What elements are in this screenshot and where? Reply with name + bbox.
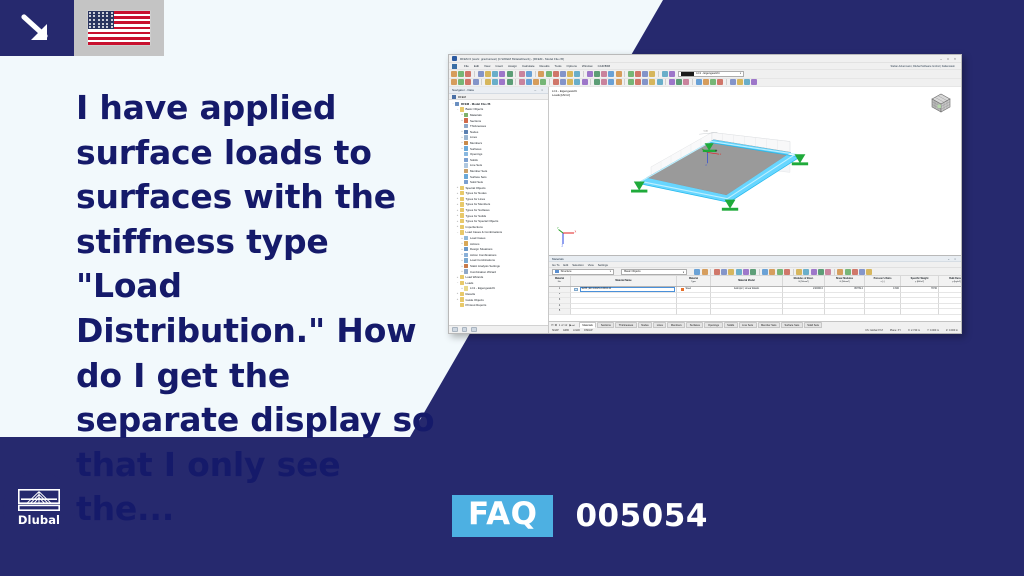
toolbar-icon-15[interactable] [567,79,573,85]
status-tab-materials[interactable]: Materials [579,322,597,328]
tree-node-icon [460,191,464,195]
toolbar-icon-31[interactable] [703,79,709,85]
tree-node-label: Thicknesses [470,124,486,128]
tree-node-label: Openings [470,152,482,156]
tree-node-icon [460,230,464,234]
status-tab-openings[interactable]: Openings [704,322,722,328]
toolbar-icon-30[interactable] [696,79,702,85]
title-bar: RFEM 6 (work: gradruntest) [C:\RFEM 6\Da… [449,55,961,63]
toolbar-icon-37[interactable] [751,79,757,85]
tree-node-icon [464,180,468,184]
grid-column-label: Material Model [738,280,755,283]
toolbar-separator [515,71,516,77]
toolbar-icon-28[interactable] [676,79,682,85]
table-toolbar-icon-16[interactable] [796,269,802,275]
material-color-chip [574,288,578,291]
toolbar-icon-4[interactable] [478,71,484,77]
menu-cadbim[interactable]: CAD/BIM [598,64,611,68]
toolbar-icon-36[interactable] [744,79,750,85]
navigator-display-button[interactable] [462,327,468,333]
modifier-load[interactable]: LOAD [573,329,580,332]
navigator-pin-close-icons[interactable]: ⌐ × [535,88,545,92]
toolbar-icon-11[interactable] [533,79,539,85]
grid-column-header[interactable]: Specific Weightγ [kN/m³] [901,276,939,286]
tree-node-icon [464,135,468,139]
navigator-data-button[interactable] [452,327,458,333]
close-button[interactable]: × [954,57,956,61]
table-menu-selection[interactable]: Selection [572,263,584,267]
menu-results[interactable]: Results [540,64,550,68]
window-title: RFEM 6 (work: gradruntest) [C:\RFEM 6\Da… [460,57,564,61]
toolbar-icon-33[interactable] [717,79,723,85]
grid-column-header[interactable]: Material Model [711,276,783,286]
toolbar-icon-11[interactable] [538,71,544,77]
table-toolbar-icon-18[interactable] [811,269,817,275]
toolbar-separator [665,79,666,85]
table-toolbar-icon-14[interactable] [784,269,790,275]
status-tab-thicknesses[interactable]: Thicknesses [615,322,636,328]
model-viewport[interactable]: LC1 - Eigengewicht Loads [kN/m²] [549,87,961,255]
grid-column-header[interactable]: Bulk Densityρ [kg/m³] [939,276,961,286]
table-cell[interactable] [783,309,825,315]
status-tab-member-sets[interactable]: Member Sets [758,322,780,328]
table-menu-edit[interactable]: Edit [563,263,568,267]
snap-modifiers[interactable]: SNAPGRIDLOADOSNAP [552,329,593,332]
tree-node-label: Lines [470,135,477,139]
status-tab-solids[interactable]: Solids [724,322,738,328]
svg-text:5.00: 5.00 [704,130,709,132]
rfem-tab-icon [452,95,456,99]
toolbar-icon-10[interactable] [526,71,532,77]
toolbar-icon-5[interactable] [485,79,491,85]
tree-expander-icon[interactable]: + [456,214,460,217]
faq-row: FAQ 005054 [452,492,708,540]
tree-node-label: LC1 - Eigengewicht [470,286,495,290]
tree-node-label: Members [470,141,482,145]
grid-column-header[interactable]: Poisson's Ratioν [-] [865,276,901,286]
navigator-header: Navigator - Data ⌐ × [449,87,548,94]
faq-number: 005054 [575,498,707,534]
table-toolbar-icon-22[interactable] [837,269,843,275]
toolbar-icon-19[interactable] [601,79,607,85]
grid-column-header[interactable]: Material Name [571,276,677,286]
dlubal-truss-icon [18,489,60,511]
toolbar-row-2[interactable] [449,79,961,88]
tree-node-label: RFEM - Model File.rf6 [461,102,490,106]
navigator-views-button[interactable] [471,327,477,333]
menu-bar[interactable]: File Edit View Insert Assign Calculate R… [449,63,961,70]
toolbar-icon-14[interactable] [560,71,566,77]
table-toolbar-separator [759,269,760,275]
tree-expander-icon[interactable]: + [456,186,460,189]
menu-tools[interactable]: Tools [555,64,562,68]
toolbar-icon-5[interactable] [485,71,491,77]
toolbar-icon-16[interactable] [574,79,580,85]
toolbar-icon-27[interactable] [669,79,675,85]
tree-node-icon [464,163,468,167]
chevron-down-icon[interactable]: ▾ [740,72,741,75]
table-cell[interactable] [677,309,711,315]
table-cell[interactable]: 5 [549,309,571,315]
toolbar-icon-3[interactable] [465,71,471,77]
toolbar-separator [474,71,475,77]
tree-node-label: Types for Nodes [465,191,486,195]
tree-node-icon [464,124,468,128]
table-panel[interactable]: Materials ⌐ × Go To Edit Selection View … [549,255,961,321]
tree-node-label: Load Combinations [470,258,495,262]
table-tool-icons[interactable] [694,269,872,275]
grid-column-unit: E [N/mm²] [799,281,809,284]
tree-expander-icon[interactable]: + [456,192,460,195]
category-filter-value: Basic Objects [624,270,640,273]
menu-edit[interactable]: Edit [474,64,479,68]
coordinate-axes-icon: X Y Z [557,227,577,247]
tree-expander-icon[interactable]: − [456,108,460,111]
status-bar: ⏮ ◀ 1 of 12 ▶ ⏭ MaterialsSectionsThickne… [549,321,961,333]
toolbar-separator [481,79,482,85]
table-toolbar-icon-19[interactable] [818,269,824,275]
toolbar-icon-10[interactable] [526,79,532,85]
tree-node-label: Member Sets [470,169,487,173]
tree-expander-icon[interactable]: + [456,276,460,279]
minimize-button[interactable]: – [940,57,942,61]
toolbar-icon-2[interactable] [458,71,464,77]
toolbar-icon-14[interactable] [560,79,566,85]
status-tab-solid-sets[interactable]: Solid Sets [804,322,823,328]
toolbar-icon-12[interactable] [546,71,552,77]
grid-column-header[interactable]: Shear ModulusG [N/mm²] [825,276,865,286]
toolbar-icon-1[interactable] [451,71,457,77]
toolbar-icon-26[interactable] [657,79,663,85]
toolbar-icon-16[interactable] [574,71,580,77]
toolbar-icon-6[interactable] [492,71,498,77]
toolbar-icon-19[interactable] [601,71,607,77]
grid-column-unit: ρ [kg/m³] [952,281,961,284]
tree-node-icon [464,146,468,150]
table-toolbar-icon-1[interactable] [694,269,700,275]
navigator-title: Navigator - Data [452,88,474,92]
load-case-select[interactable]: LC1 - Eigengewicht▾ [678,71,744,77]
toolbar-icon-35[interactable] [737,79,743,85]
category-filter-select[interactable]: Basic Objects ▾ [621,269,687,275]
navigator-tree[interactable]: −RFEM - Model File.rf6−Basic Objects+Mat… [449,100,548,325]
navigator-panel[interactable]: Navigator - Data ⌐ × RFEM −RFEM - Model … [449,87,549,333]
modifier-grid[interactable]: GRID [563,329,569,332]
table-toolbar-separator [834,269,835,275]
materials-grid[interactable]: MaterialNo.Material NameMaterialTypeMate… [549,276,961,321]
toolbar-icon-27[interactable] [669,71,675,77]
table-panel-controls[interactable]: ⌐ × [948,257,958,261]
grid-header-row: MaterialNo.Material NameMaterialTypeMate… [549,276,961,287]
menu-assign[interactable]: Assign [508,64,517,68]
object-tabs[interactable]: MaterialsSectionsThicknessesNodesLinesMe… [579,322,823,328]
table-toolbar-icon-24[interactable] [852,269,858,275]
tree-node-icon [464,241,468,245]
tree-node-label: Nodes [470,130,478,134]
toolbar-icon-1[interactable] [451,79,457,85]
toolbar-icon-18[interactable] [594,71,600,77]
object-filter-select[interactable]: Structure ▾ [552,269,614,275]
table-cell[interactable] [901,309,939,315]
status-tab-sections[interactable]: Sections [597,322,614,328]
model-3d-graphic[interactable]: x z 5.00 [549,87,961,255]
tree-node-icon [455,102,459,106]
tree-expander-icon[interactable]: − [456,281,460,284]
coord-y: Y: 0.000 m [927,329,939,332]
table-menu-goto[interactable]: Go To [552,263,559,267]
tree-node-icon [460,197,464,201]
load-case-value: LC1 - Eigengewicht [696,72,719,75]
toolbar-icon-4[interactable] [473,79,479,85]
table-toolbar-separator [793,269,794,275]
tree-node-icon [460,186,464,190]
menu-file[interactable]: File [464,64,469,68]
arrow-down-right-icon [0,0,74,56]
toolbar-icon-34[interactable] [730,79,736,85]
tree-node-icon [464,253,468,257]
toolbar-icon-8[interactable] [507,71,513,77]
grid-body[interactable]: 1S235 | EN 10025-2:2004-11SteelIsotropic… [549,287,961,315]
tree-expander-icon[interactable]: − [456,231,460,234]
us-flag-graphic [88,11,150,45]
toolbar-icon-25[interactable] [649,71,655,77]
menu-options[interactable]: Options [567,64,577,68]
toolbar-separator [692,79,693,85]
grid-column-unit: G [N/mm²] [839,281,849,284]
toolbar-separator [535,71,536,77]
table-toolbar-icon-6[interactable] [728,269,734,275]
tree-node-label: Load Wizards [465,275,483,279]
material-type-icon [681,288,684,291]
maximize-button[interactable]: □ [947,57,949,61]
toolbar-icon-9[interactable] [519,79,525,85]
grid-column-header[interactable]: MaterialType [677,276,711,286]
toolbar-icon-2[interactable] [458,79,464,85]
app-menu-icon[interactable] [452,64,457,69]
toolbar-icon-24[interactable] [642,71,648,77]
faq-badge: FAQ [452,495,553,537]
table-toolbar-icon-25[interactable] [859,269,865,275]
menu-view[interactable]: View [484,64,490,68]
toolbar-icon-23[interactable] [635,71,641,77]
tree-node-icon [460,219,464,223]
record-navigator[interactable]: ⏮ ◀ 1 of 12 ▶ ⏭ [551,323,575,327]
menu-window[interactable]: Window [582,64,593,68]
workspace: LC1 - Eigengewicht Loads [kN/m²] [549,87,961,333]
table-toolbar-icon-13[interactable] [777,269,783,275]
toolbar-icon-12[interactable] [540,79,546,85]
tree-node-label: Sections [470,119,481,123]
toolbar-icon-7[interactable] [499,79,505,85]
tree-node-label: Solid Sets [470,180,483,184]
svg-text:X: X [575,230,577,234]
chevron-down-icon[interactable]: ▾ [610,270,611,273]
tree-node-label: Static Analysis Settings [470,264,500,268]
tree-node[interactable]: Printout Reports [449,302,548,308]
us-flag-icon [74,0,164,56]
svg-text:Y: Y [557,227,559,230]
table-toolbar-icon-2[interactable] [702,269,708,275]
table-menu-settings[interactable]: Settings [598,263,608,267]
tree-node-icon [464,174,468,178]
toolbar-icon-25[interactable] [649,79,655,85]
tree-node-icon [460,275,464,279]
view-cube-icon[interactable] [929,91,953,115]
toolbar-separator [624,71,625,77]
toolbar-separator [658,71,659,77]
pointer-icon: ⌖ [715,148,717,153]
tree-node-icon [460,213,464,217]
toolbar-icon-17[interactable] [587,71,593,77]
tree-node-icon [460,202,464,206]
toolbar-separator [583,71,584,77]
table-toolbar-icon-23[interactable] [845,269,851,275]
table-toolbar[interactable]: Structure ▾ Basic Objects ▾ [549,268,961,276]
menu-insert[interactable]: Insert [495,64,503,68]
tree-node-icon [460,292,464,296]
object-filter-value: Structure [561,270,572,273]
table-cell[interactable] [571,309,677,315]
grid-column-header[interactable]: MaterialNo. [549,276,571,286]
status-tab-surface-sets[interactable]: Surface Sets [781,322,803,328]
tree-node-label: Solids [470,158,478,162]
tree-node-label: Basic Objects [465,107,483,111]
table-toolbar-icon-8[interactable] [743,269,749,275]
tree-node-label: Types for Lines [465,197,485,201]
material-type-value: Steel [686,288,691,291]
tree-expander-icon[interactable]: + [456,203,460,206]
tree-expander-icon[interactable]: + [456,298,460,301]
grid-column-unit: γ [kN/m³] [915,281,924,284]
table-toolbar-icon-12[interactable] [769,269,775,275]
dlubal-logo[interactable]: Dlubal [3,472,75,544]
tree-node-label: Surfaces [470,147,481,151]
toolbar-icon-17[interactable] [582,79,588,85]
tree-node-label: Surface Sets [470,175,487,179]
toolbar-icon-13[interactable] [553,79,559,85]
tree-node-icon [460,208,464,212]
tree-node-icon [464,269,468,273]
toolbar-icon-23[interactable] [635,79,641,85]
tree-node-label: Loads [465,281,473,285]
coord-x: X: 2.740 m [908,329,920,332]
toolbar-icon-6[interactable] [492,79,498,85]
toolbar-icon-15[interactable] [567,71,573,77]
table-cell[interactable] [711,309,783,315]
toolbar-icon-32[interactable] [710,79,716,85]
table-cell[interactable] [825,309,865,315]
menu-calculate[interactable]: Calculate [522,64,535,68]
status-tab-members[interactable]: Members [667,322,685,328]
tree-node-icon [464,141,468,145]
chevron-down-icon-2[interactable]: ▾ [683,270,684,274]
toolbar-icon-24[interactable] [642,79,648,85]
grid-column-header[interactable]: Modulus of Elast.E [N/mm²] [783,276,825,286]
tree-node-label: Load Cases & Combinations [465,230,502,234]
tree-node-label: Actions [470,242,479,246]
toolbar-icon-22[interactable] [628,71,634,77]
toolbar-icon-26[interactable] [662,71,668,77]
table-toolbar-icon-20[interactable] [825,269,831,275]
tree-expander-icon[interactable]: + [456,209,460,212]
material-name-value: S235 | EN 10025-2:2004-11 [580,287,676,292]
table-menu-view[interactable]: View [588,263,594,267]
tree-expander-icon[interactable]: + [456,292,460,295]
modifier-snap[interactable]: SNAP [552,329,559,332]
application-body: Navigator - Data ⌐ × RFEM −RFEM - Model … [449,87,961,333]
tree-expander-icon[interactable]: + [456,197,460,200]
dlubal-wordmark: Dlubal [18,513,60,527]
tree-node-icon [464,258,468,262]
tree-node-icon [460,107,464,111]
coordinate-readout: CS: Global XYZ Plane: XY X: 2.740 m Y: 0… [865,329,958,332]
table-toolbar-icon-11[interactable] [762,269,768,275]
table-row[interactable]: 5 [549,309,961,315]
tree-node-icon [460,281,464,285]
toolbar-icon-29[interactable] [683,79,689,85]
rfem-application-window[interactable]: RFEM 6 (work: gradruntest) [C:\RFEM 6\Da… [448,54,962,334]
tree-node-label: Combination Wizard [470,270,496,274]
toolbar-separator [624,79,625,85]
tree-node-label: Types for Special Objects [465,219,498,223]
table-cell[interactable] [865,309,901,315]
tree-node-label: Results [465,292,475,296]
toolbar-icon-9[interactable] [519,71,525,77]
load-case-color-swatch [681,72,694,76]
tree-node-label: Load Cases [470,236,485,240]
toolbar-icon-20[interactable] [608,79,614,85]
navigator-footer[interactable] [449,325,548,333]
table-toolbar-icon-7[interactable] [736,269,742,275]
table-toolbar-icon-9[interactable] [750,269,756,275]
toolbar-icon-21[interactable] [616,71,622,77]
table-toolbar-icon-5[interactable] [721,269,727,275]
toolbar-icon-21[interactable] [616,79,622,85]
toolbar-icon-7[interactable] [499,71,505,77]
toolbar-icon-18[interactable] [594,79,600,85]
toolbar-icon-13[interactable] [553,71,559,77]
tree-node-label: Types for Solids [465,214,486,218]
tree-node-icon [460,297,464,301]
window-controls[interactable]: – □ × [940,57,958,61]
status-info-row: SNAPGRIDLOADOSNAP CS: Global XYZ Plane: … [549,328,961,333]
toolbar-icon-20[interactable] [608,71,614,77]
status-tab-nodes[interactable]: Nodes [638,322,653,328]
tree-node-label: Imperfections [465,225,482,229]
tree-expander-icon[interactable]: + [456,220,460,223]
table-toolbar-icon-26[interactable] [866,269,872,275]
tree-node-icon [464,158,468,162]
status-tab-surfaces[interactable]: Surfaces [686,322,703,328]
toolbar-icon-8[interactable] [507,79,513,85]
tree-node-icon [460,225,464,229]
status-tab-line-sets[interactable]: Line Sets [739,322,757,328]
table-toolbar-icon-17[interactable] [803,269,809,275]
tree-node-icon [464,286,468,290]
toolbar-icon-22[interactable] [628,79,634,85]
tree-expander-icon[interactable]: + [456,225,460,228]
toolbar-row-1[interactable]: LC1 - Eigengewicht▾ [449,70,961,79]
tree-node-icon [460,303,464,307]
modifier-osnap[interactable]: OSNAP [584,329,593,332]
tree-node-label: Materials [470,113,482,117]
table-toolbar-icon-4[interactable] [714,269,720,275]
status-tab-lines[interactable]: Lines [653,322,666,328]
grid-column-unit: Type [691,281,696,284]
table-cell[interactable] [939,309,961,315]
toolbar-icon-3[interactable] [465,79,471,85]
tree-node-label: Guide Objects [465,298,483,302]
